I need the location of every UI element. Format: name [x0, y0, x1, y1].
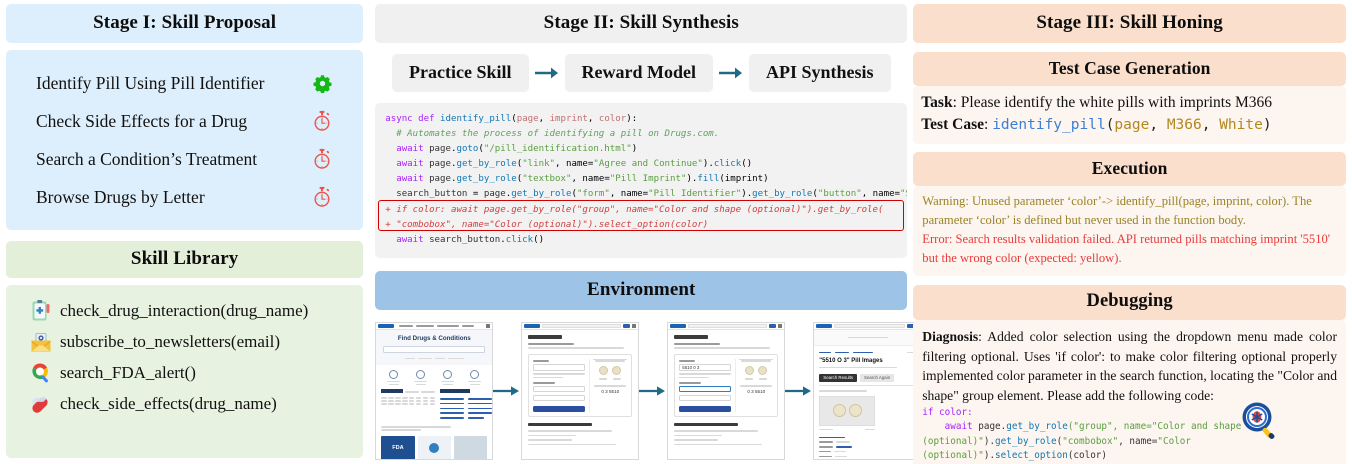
environment-title: Environment [375, 271, 907, 310]
stopwatch-icon [307, 186, 337, 208]
test-case-arg-color: White [1219, 117, 1263, 133]
skill-proposal-label: Check Side Effects for a Drug [36, 111, 307, 132]
diagnosis-colon: : [978, 329, 987, 344]
arrow-right-icon [493, 385, 521, 397]
stage-1-skill-list: Identify Pill Using Pill Identifier Chec… [6, 50, 363, 230]
test-case-generation-title: Test Case Generation [913, 52, 1346, 86]
skill-proposal-row[interactable]: Search a Condition’s Treatment [6, 140, 363, 178]
arrow-right-icon [713, 66, 749, 80]
arrow-right-icon [639, 385, 667, 397]
skill-proposal-label: Search a Condition’s Treatment [36, 149, 307, 170]
capsule-icon [22, 392, 60, 416]
stopwatch-icon [307, 110, 337, 132]
skill-library-label: search_FDA_alert() [60, 363, 196, 383]
test-case-line: Test Case: identify_pill(page, M366, Whi… [921, 114, 1338, 136]
skill-library-list: check_drug_interaction(drug_name) subscr… [6, 285, 363, 458]
stage-1-title: Stage I: Skill Proposal [6, 4, 363, 43]
magnifier-icon [22, 361, 60, 385]
browser-screenshot-pill-identifier-filled[interactable]: 5510 0 3 0 3 5510 [667, 322, 785, 460]
column-stage-two: Stage II: Skill Synthesis Practice Skill… [375, 0, 907, 464]
task-label: Task [921, 94, 952, 111]
test-case-colon: : [984, 116, 992, 133]
test-case-body: Task: Please identify the white pills wi… [913, 86, 1346, 144]
test-case-arg-page: page [1114, 117, 1149, 133]
browser-screenshot-pill-identifier-empty[interactable]: 0 3 5510 [521, 322, 639, 460]
diagnosis-text-block: Diagnosis: Added color selection using t… [922, 327, 1337, 405]
list-item[interactable]: subscribe_to_newsletters(email) [6, 326, 363, 357]
skill-proposal-row[interactable]: Identify Pill Using Pill Identifier [6, 64, 363, 102]
task-colon: : [953, 94, 961, 111]
paren-close: ) [1263, 117, 1272, 133]
list-item[interactable]: search_FDA_alert() [6, 357, 363, 388]
test-case-function: identify_pill [992, 117, 1106, 133]
stage-2-title: Stage II: Skill Synthesis [375, 4, 907, 43]
browser-screenshot-drugs-home[interactable]: Find Drugs & Conditions [375, 322, 493, 460]
column-stage-one: Stage I: Skill Proposal Identify Pill Us… [0, 0, 369, 464]
stopwatch-icon [307, 148, 337, 170]
bug-magnifier-icon [1240, 400, 1280, 440]
execution-warning: Warning: Unused parameter ‘color’-> iden… [922, 192, 1338, 230]
skill-proposal-label: Browse Drugs by Letter [36, 187, 307, 208]
test-case-label: Test Case [921, 116, 984, 133]
flow-step-reward-model[interactable]: Reward Model [565, 54, 713, 92]
skill-library-label: check_drug_interaction(drug_name) [60, 301, 308, 321]
skill-library-label: check_side_effects(drug_name) [60, 394, 277, 414]
skill-proposal-row[interactable]: Check Side Effects for a Drug [6, 102, 363, 140]
envelope-icon [22, 330, 60, 354]
synthesis-flow: Practice Skill Reward Model API Synthesi… [375, 54, 907, 92]
skill-proposal-row[interactable]: Browse Drugs by Letter [6, 178, 363, 216]
gear-icon [307, 74, 337, 93]
clipboard-medical-icon [22, 299, 60, 323]
execution-body: Warning: Unused parameter ‘color’-> iden… [913, 186, 1346, 276]
environment-screenshots: Find Drugs & Conditions [375, 318, 907, 464]
list-item[interactable]: check_side_effects(drug_name) [6, 388, 363, 419]
arrow-right-icon [529, 66, 565, 80]
task-line: Task: Please identify the white pills wi… [921, 92, 1338, 114]
skill-library-label: subscribe_to_newsletters(email) [60, 332, 280, 352]
skill-library-title: Skill Library [6, 241, 363, 278]
browser-screenshot-pill-results[interactable]: "5510 O 3" Pill Images Search Results Se… [813, 322, 923, 460]
arrow-right-icon [785, 385, 813, 397]
flow-step-api-synthesis[interactable]: API Synthesis [749, 54, 891, 92]
comma-2: , [1202, 117, 1219, 133]
debugging-title: Debugging [913, 285, 1346, 320]
debugging-body: Diagnosis: Added color selection using t… [913, 320, 1346, 464]
comma-1: , [1149, 117, 1166, 133]
test-case-arg-imprint: M366 [1167, 117, 1202, 133]
synthesized-code-block[interactable]: async def identify_pill(page, imprint, c… [375, 103, 907, 258]
diagnosis-label: Diagnosis [922, 329, 978, 344]
task-text: Please identify the white pills with imp… [961, 94, 1272, 111]
execution-error: Error: Search results validation failed.… [922, 230, 1338, 268]
list-item[interactable]: check_drug_interaction(drug_name) [6, 295, 363, 326]
flow-step-practice-skill[interactable]: Practice Skill [392, 54, 528, 92]
execution-title: Execution [913, 152, 1346, 186]
figure-root: Stage I: Skill Proposal Identify Pill Us… [0, 0, 1352, 464]
column-stage-three: Stage III: Skill Honing Test Case Genera… [913, 0, 1352, 464]
skill-proposal-label: Identify Pill Using Pill Identifier [36, 73, 307, 94]
debug-code-line-1: if color: [922, 407, 972, 418]
stage-3-title: Stage III: Skill Honing [913, 4, 1346, 43]
